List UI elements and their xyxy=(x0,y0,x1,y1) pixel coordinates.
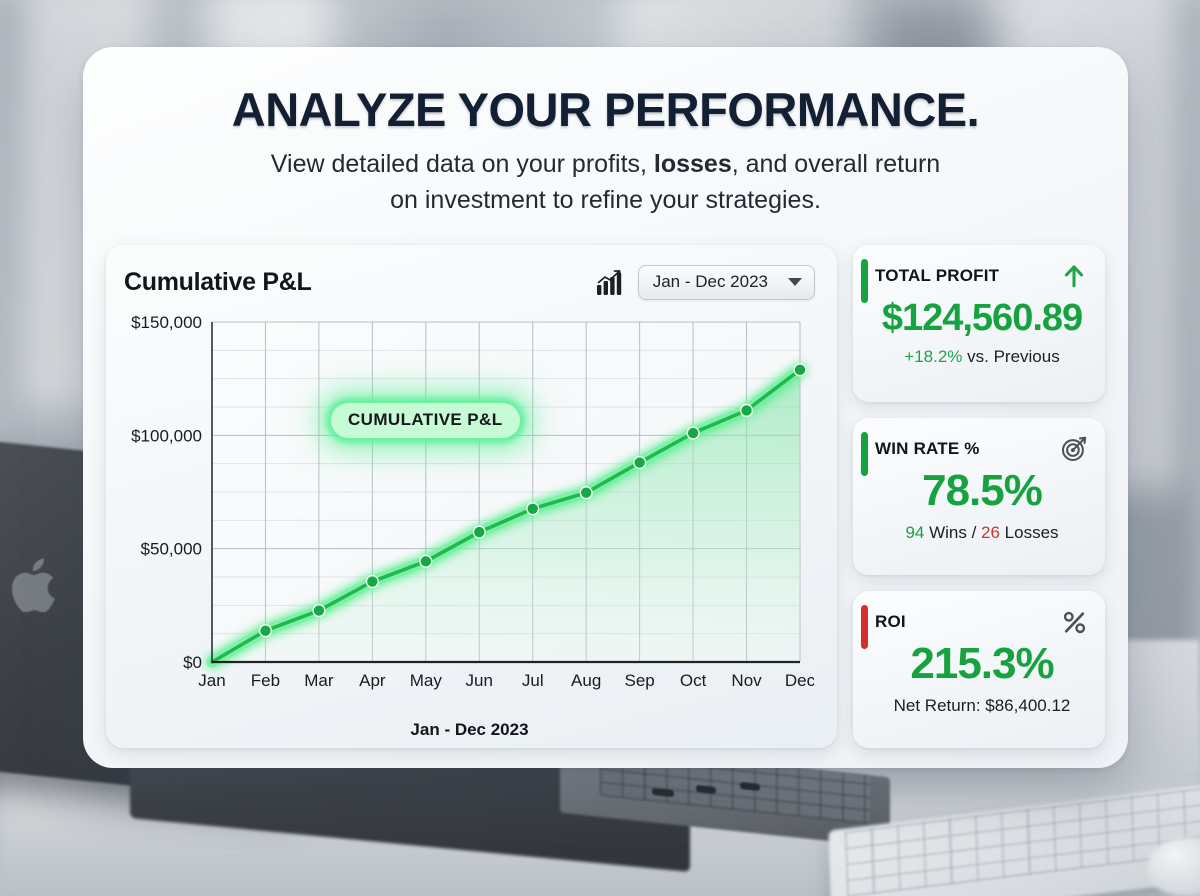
subtitle-part-c: , and overall return xyxy=(732,150,940,178)
svg-text:$0: $0 xyxy=(183,653,202,672)
kpi-card-roi[interactable]: ROI 215.3% Net Return: $86,400.12 xyxy=(853,591,1105,748)
svg-text:Sep: Sep xyxy=(625,671,655,690)
kpi-header-roi: ROI xyxy=(875,607,1089,637)
kpi-sub-win-rate: 94 Wins / 26 Losses xyxy=(875,523,1089,543)
chart-title: Cumulative P&L xyxy=(124,268,312,297)
kpi-sub-total-profit: +18.2% vs. Previous xyxy=(875,347,1089,367)
date-range-dropdown[interactable]: Jan - Dec 2023 xyxy=(638,265,815,300)
svg-text:Jan: Jan xyxy=(198,671,225,690)
kpi-card-win-rate[interactable]: WIN RATE % 78.5% 94 Wins / 26 Losses xyxy=(853,418,1105,575)
svg-text:Jun: Jun xyxy=(466,671,493,690)
arrow-up-icon xyxy=(1059,261,1089,291)
percent-icon xyxy=(1059,607,1089,637)
svg-text:$50,000: $50,000 xyxy=(141,540,202,559)
cumulative-pl-chart-card: Cumulative P&L Jan - Dec 2023 xyxy=(106,245,837,748)
chart-plot-area: $0$50,000$100,000$150,000JanFebMarAprMay… xyxy=(124,314,815,734)
kpi-wins-count: 94 xyxy=(905,523,924,542)
kpi-delta-suffix: vs. Previous xyxy=(962,347,1059,366)
subtitle-part-a: View detailed data on your profits, xyxy=(271,150,654,178)
kpi-value-total-profit: $124,560.89 xyxy=(875,297,1089,340)
content-panel: ANALYZE YOUR PERFORMANCE. View detailed … xyxy=(83,47,1128,768)
svg-text:Oct: Oct xyxy=(680,671,707,690)
subtitle-emphasis: losses xyxy=(654,150,732,178)
series-badge: CUMULATIVE P&L xyxy=(331,403,520,438)
svg-text:$150,000: $150,000 xyxy=(131,314,202,332)
page-subtitle: View detailed data on your profits, loss… xyxy=(83,147,1128,218)
accent-bar-win-rate xyxy=(861,432,868,476)
subtitle-line-2: on investment to refine your strategies. xyxy=(390,186,821,214)
kpi-wins-word: Wins / xyxy=(924,523,981,542)
line-chart-svg[interactable]: $0$50,000$100,000$150,000JanFebMarAprMay… xyxy=(124,314,814,714)
kpi-label-total-profit: TOTAL PROFIT xyxy=(875,266,999,286)
accent-bar-total-profit xyxy=(861,259,868,303)
apple-logo-icon xyxy=(10,556,56,612)
target-icon xyxy=(1059,434,1089,464)
kpi-header-total-profit: TOTAL PROFIT xyxy=(875,261,1089,291)
kpi-header-win-rate: WIN RATE % xyxy=(875,434,1089,464)
kpi-value-win-rate: 78.5% xyxy=(875,466,1089,516)
kpi-losses-count: 26 xyxy=(981,523,1000,542)
svg-text:Mar: Mar xyxy=(304,671,334,690)
kpi-card-total-profit[interactable]: TOTAL PROFIT $124,560.89 +18.2% vs. Prev… xyxy=(853,245,1105,402)
page-title: ANALYZE YOUR PERFORMANCE. xyxy=(83,82,1128,137)
svg-text:Jul: Jul xyxy=(522,671,544,690)
chevron-down-icon xyxy=(788,278,802,286)
x-axis-title: Jan - Dec 2023 xyxy=(124,720,815,740)
kpi-column: TOTAL PROFIT $124,560.89 +18.2% vs. Prev… xyxy=(853,245,1105,748)
svg-text:May: May xyxy=(410,671,443,690)
kpi-value-roi: 215.3% xyxy=(875,639,1089,689)
kpi-delta-total-profit: +18.2% xyxy=(904,347,962,366)
kpi-sub-roi: Net Return: $86,400.12 xyxy=(875,696,1089,716)
date-range-value: Jan - Dec 2023 xyxy=(653,272,768,292)
chart-header: Cumulative P&L Jan - Dec 2023 xyxy=(124,265,815,300)
kpi-label-roi: ROI xyxy=(875,612,906,632)
svg-text:Dec: Dec xyxy=(785,671,814,690)
dashboard: Cumulative P&L Jan - Dec 2023 xyxy=(106,245,1105,748)
kpi-losses-word: Losses xyxy=(1000,523,1059,542)
svg-text:Feb: Feb xyxy=(251,671,280,690)
svg-text:Nov: Nov xyxy=(731,671,762,690)
svg-text:Apr: Apr xyxy=(359,671,386,690)
svg-text:Aug: Aug xyxy=(571,671,601,690)
svg-text:$100,000: $100,000 xyxy=(131,426,202,445)
chart-controls: Jan - Dec 2023 xyxy=(596,265,815,300)
bar-chart-trend-icon[interactable] xyxy=(596,270,624,296)
kpi-label-win-rate: WIN RATE % xyxy=(875,439,980,459)
accent-bar-roi xyxy=(861,605,868,649)
